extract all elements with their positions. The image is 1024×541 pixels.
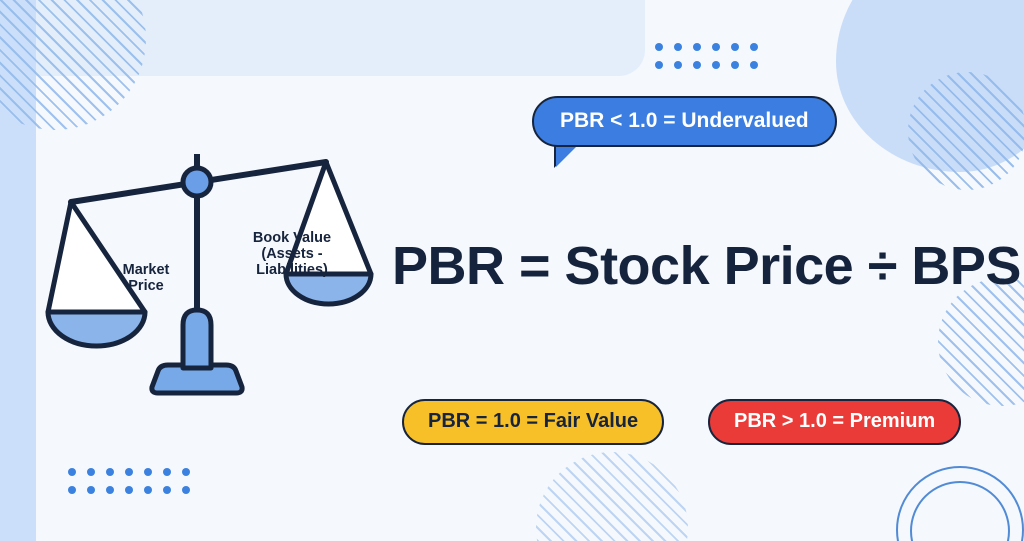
right-pan-label-line1: Book Value — [229, 230, 355, 246]
balance-scale-illustration: Market Price Book Value (Assets - Liabil… — [40, 140, 380, 400]
callout-premium[interactable]: PBR > 1.0 = Premium — [708, 399, 961, 445]
right-pan-label-line3: Liabilities) — [229, 262, 355, 278]
scale-pivot-icon — [183, 168, 211, 196]
dot-grid-bottom-icon — [68, 468, 190, 494]
callout-fair-value[interactable]: PBR = 1.0 = Fair Value — [402, 399, 664, 445]
left-pan-cone — [48, 202, 145, 312]
left-pan-bowl — [48, 312, 145, 346]
left-pan-label: Market Price — [98, 262, 194, 294]
scale-base-column — [183, 310, 211, 368]
infographic-canvas: Market Price Book Value (Assets - Liabil… — [0, 0, 1024, 541]
callout-undervalued[interactable]: PBR < 1.0 = Undervalued — [532, 96, 837, 147]
striped-circle-top-right-icon — [908, 72, 1024, 190]
right-pan-label-line2: (Assets - — [229, 246, 355, 262]
striped-circle-bottom-center-icon — [536, 452, 688, 541]
left-pan-label-line2: Price — [98, 278, 194, 294]
left-pan-label-line1: Market — [98, 262, 194, 278]
right-pan-label: Book Value (Assets - Liabilities) — [229, 230, 355, 279]
page-title: PBR = Stock Price ÷ BPS — [392, 235, 1021, 297]
striped-circle-bottom-right-icon — [938, 278, 1024, 406]
striped-circle-top-left-icon — [0, 0, 146, 130]
dot-grid-top-icon — [655, 43, 758, 69]
